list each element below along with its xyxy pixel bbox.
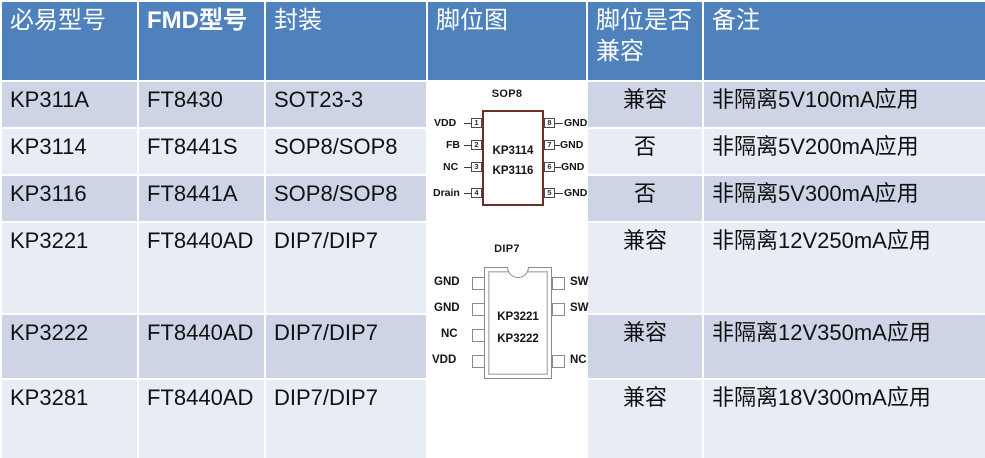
cell-by-model: KP3222 (2, 315, 137, 378)
sop8-pin-label-drain: Drain (433, 187, 460, 200)
cell-package: DIP7/DIP7 (266, 315, 426, 378)
dip7-pin-label-vdd: VDD (432, 353, 456, 367)
sop8-pin-number-4: 4 (471, 188, 482, 198)
cell-fmd-model: FT8441A (139, 176, 264, 221)
dip7-part-label-1: KP3221 (485, 310, 551, 324)
cell-remark: 非隔离12V250mA应用 (704, 223, 985, 313)
sop8-chip-body: KP3114 KP3116 (482, 110, 544, 206)
sop8-pin-number-8: 8 (544, 118, 555, 128)
cell-pin-compatible: 否 (588, 129, 702, 174)
cell-by-model: KP3116 (2, 176, 137, 221)
sop8-pin-number-2: 2 (471, 140, 482, 150)
sop8-lead-3 (464, 167, 472, 168)
dip7-pin-label-gnd-1: GND (434, 275, 460, 289)
cell-pin-compatible: 兼容 (588, 315, 702, 378)
sop8-pin-number-7: 7 (544, 140, 555, 150)
dip7-pin-right-3 (552, 355, 565, 368)
dip7-pin-right-2 (552, 303, 565, 316)
sop8-pin-number-5: 5 (544, 188, 555, 198)
dip7-pinout-diagram: DIP7 KP3221 KP3222 GND GND NC (436, 241, 578, 391)
sop8-pin-number-3: 3 (471, 162, 482, 172)
dip7-pin-right-1 (552, 277, 565, 290)
sop8-pin-label-gnd-6: GND (561, 161, 584, 174)
sop8-lead-5 (555, 193, 563, 194)
cell-remark: 非隔离5V100mA应用 (704, 82, 985, 127)
dip7-pin-label-sw-2: SW (570, 301, 589, 315)
cell-fmd-model: FT8440AD (139, 315, 264, 378)
column-header-remark: 备注 (704, 2, 985, 80)
dip7-pin-label-nc: NC (441, 327, 458, 341)
cell-remark: 非隔离12V350mA应用 (704, 315, 985, 378)
table-body: KP311A FT8430 SOT23-3 SOP8 KP3114 KP3116… (2, 82, 985, 458)
sop8-lead-8 (555, 123, 563, 124)
dip7-pin-left-4 (472, 355, 485, 368)
column-header-pinout-diagram: 脚位图 (428, 2, 586, 80)
cell-package: DIP7/DIP7 (266, 223, 426, 313)
cell-package: SOP8/SOP8 (266, 129, 426, 174)
sop8-pin-label-gnd-8: GND (564, 117, 587, 130)
dip7-pin-label-sw-1: SW (570, 275, 589, 289)
cell-by-model: KP3221 (2, 223, 137, 313)
table-row: KP3221 FT8440AD DIP7/DIP7 DIP7 KP3221 KP… (2, 223, 985, 313)
dip7-pin-label-nc-right: NC (570, 353, 587, 367)
sop8-lead-4 (464, 193, 472, 194)
dip7-chip-body: KP3221 KP3222 (484, 267, 552, 379)
column-header-pin-compatible: 脚位是否兼容 (588, 2, 702, 80)
sop8-pin-label-gnd-7: GND (560, 139, 583, 152)
cell-package: SOP8/SOP8 (266, 176, 426, 221)
cell-fmd-model: FT8440AD (139, 223, 264, 313)
dip7-pin-left-1 (472, 277, 485, 290)
dip7-pin-left-3 (472, 329, 485, 342)
cell-remark: 非隔离18V300mA应用 (704, 380, 985, 458)
sop8-pin-label-gnd-5: GND (564, 187, 587, 200)
cell-pin-compatible: 兼容 (588, 380, 702, 458)
cell-fmd-model: FT8430 (139, 82, 264, 127)
sop8-pinout-diagram: SOP8 KP3114 KP3116 1 VDD 2 FB 3 (436, 86, 578, 214)
product-comparison-table: 必易型号 FMD型号 封装 脚位图 脚位是否兼容 备注 KP311A FT843… (0, 0, 985, 458)
sop8-part-label-1: KP3114 (484, 144, 542, 158)
cell-package: SOT23-3 (266, 82, 426, 127)
table-header: 必易型号 FMD型号 封装 脚位图 脚位是否兼容 备注 (2, 2, 985, 80)
dip7-notch-marker (507, 267, 529, 278)
column-header-fmd-model: FMD型号 (139, 2, 264, 80)
cell-package: DIP7/DIP7 (266, 380, 426, 458)
column-header-by-model: 必易型号 (2, 2, 137, 80)
table-header-row: 必易型号 FMD型号 封装 脚位图 脚位是否兼容 备注 (2, 2, 985, 80)
sop8-pin-label-nc: NC (443, 161, 458, 174)
sop8-pin-label-vdd: VDD (434, 117, 456, 130)
dip7-title: DIP7 (436, 241, 578, 257)
cell-pinout-diagram-dip7: DIP7 KP3221 KP3222 GND GND NC (428, 223, 586, 458)
comparison-table-sheet: 必易型号 FMD型号 封装 脚位图 脚位是否兼容 备注 KP311A FT843… (0, 0, 985, 458)
sop8-pin-number-6: 6 (544, 162, 555, 172)
dip7-pin-left-2 (472, 303, 485, 316)
cell-fmd-model: FT8440AD (139, 380, 264, 458)
cell-pinout-diagram-sop8: SOP8 KP3114 KP3116 1 VDD 2 FB 3 (428, 82, 586, 221)
cell-by-model: KP3114 (2, 129, 137, 174)
cell-fmd-model: FT8441S (139, 129, 264, 174)
sop8-title: SOP8 (436, 86, 578, 102)
cell-pin-compatible: 兼容 (588, 223, 702, 313)
column-header-package: 封装 (266, 2, 426, 80)
sop8-pin-label-fb: FB (446, 139, 460, 152)
dip7-part-label-2: KP3222 (485, 332, 551, 346)
table-row: KP311A FT8430 SOT23-3 SOP8 KP3114 KP3116… (2, 82, 985, 127)
cell-by-model: KP311A (2, 82, 137, 127)
sop8-lead-2 (464, 145, 472, 146)
cell-pin-compatible: 兼容 (588, 82, 702, 127)
sop8-lead-1 (464, 123, 472, 124)
dip7-pin-label-gnd-2: GND (434, 301, 460, 315)
sop8-part-label-2: KP3116 (484, 164, 542, 178)
cell-remark: 非隔离5V200mA应用 (704, 129, 985, 174)
cell-remark: 非隔离5V300mA应用 (704, 176, 985, 221)
cell-by-model: KP3281 (2, 380, 137, 458)
sop8-pin-number-1: 1 (471, 118, 482, 128)
cell-pin-compatible: 否 (588, 176, 702, 221)
